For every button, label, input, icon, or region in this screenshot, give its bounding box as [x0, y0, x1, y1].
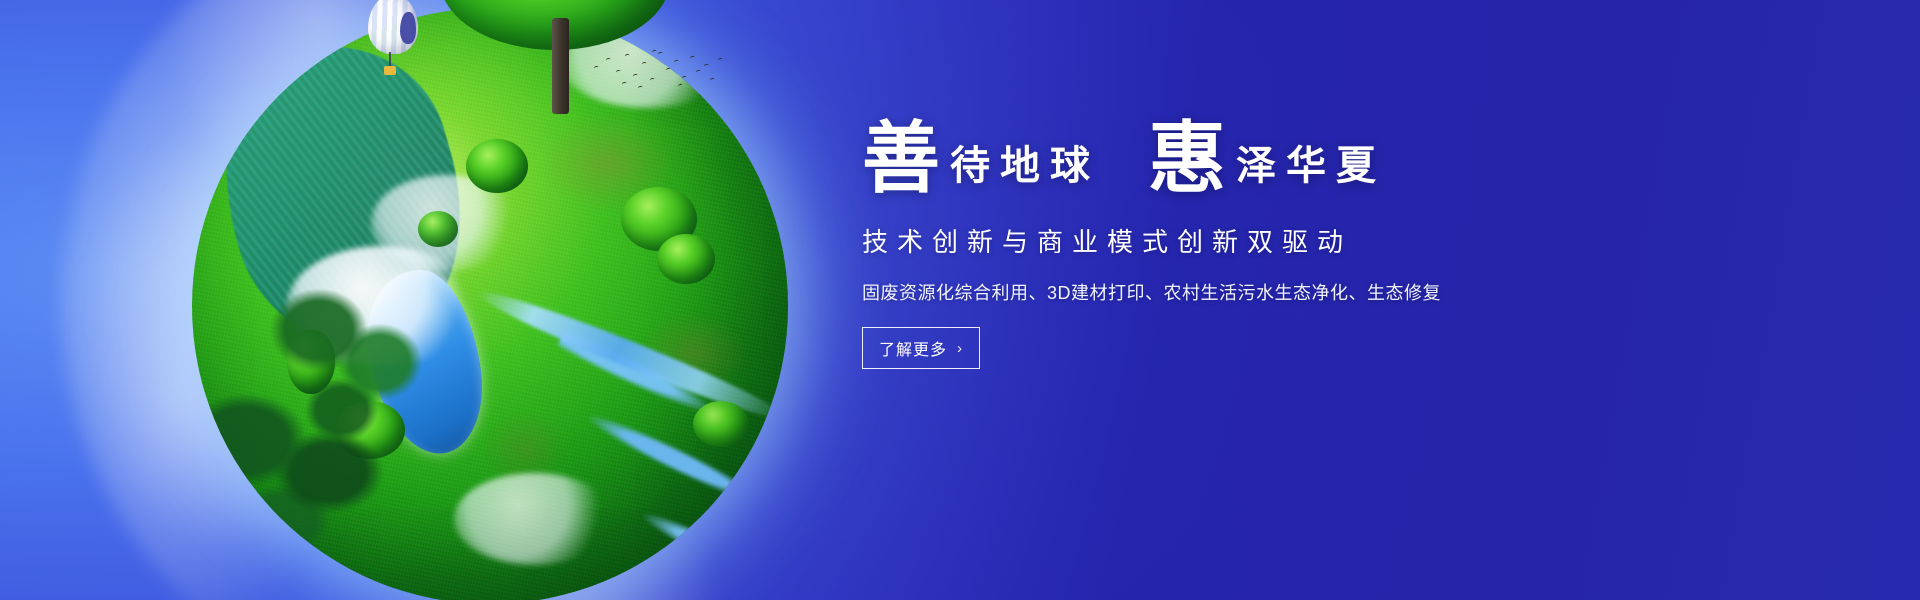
bird-glyph [606, 57, 612, 62]
chevron-right-icon: › [957, 340, 963, 357]
bird-glyph [710, 77, 716, 82]
banner-subtitle: 技术创新与商业模式创新双驱动 [862, 222, 1602, 259]
page-title: 善 待地球 惠 泽华夏 [862, 122, 1602, 196]
flying-birds-icon [592, 48, 722, 94]
hot-air-balloon-icon [368, 0, 418, 80]
tree-trunk [552, 18, 569, 114]
foreground-trees [258, 282, 448, 482]
bird-glyph [650, 77, 656, 82]
learn-more-button[interactable]: 了解更多 › [862, 327, 980, 369]
bird-glyph [696, 69, 702, 74]
bird-glyph [678, 83, 684, 88]
hero-banner: 善 待地球 惠 泽华夏 技术创新与商业模式创新双驱动 固废资源化综合利用、3D建… [0, 0, 1920, 600]
bird-glyph [682, 75, 688, 80]
banner-content: 善 待地球 惠 泽华夏 技术创新与商业模式创新双驱动 固废资源化综合利用、3D建… [862, 122, 1602, 369]
tree-canopy [693, 401, 749, 447]
bird-glyph [652, 49, 658, 54]
bird-glyph [674, 59, 680, 64]
bird-glyph [633, 73, 639, 78]
bird-glyph [658, 51, 664, 56]
headline-rest-1: 待地球 [940, 146, 1100, 196]
bird-glyph [594, 65, 600, 70]
bird-glyph [625, 53, 631, 58]
balloon-basket [384, 66, 396, 75]
bird-glyph [616, 69, 622, 74]
tree-canopy [418, 211, 458, 247]
cloud-patch [454, 473, 614, 565]
headline-char-1: 善 [862, 122, 940, 196]
bird-glyph [642, 61, 648, 66]
bird-glyph [666, 67, 672, 72]
balloon-envelope [368, 0, 418, 54]
bird-glyph [622, 81, 628, 86]
globe-illustration [140, 0, 840, 600]
tree-canopy [466, 139, 528, 193]
bird-glyph [638, 85, 644, 90]
headline-rest-2: 泽华夏 [1226, 146, 1386, 196]
bird-glyph [704, 63, 710, 68]
headline-char-2: 惠 [1148, 122, 1226, 196]
learn-more-label: 了解更多 [879, 336, 947, 360]
bird-glyph [690, 55, 696, 60]
banner-description: 固废资源化综合利用、3D建材打印、农村生活污水生态净化、生态修复 [862, 279, 1602, 305]
